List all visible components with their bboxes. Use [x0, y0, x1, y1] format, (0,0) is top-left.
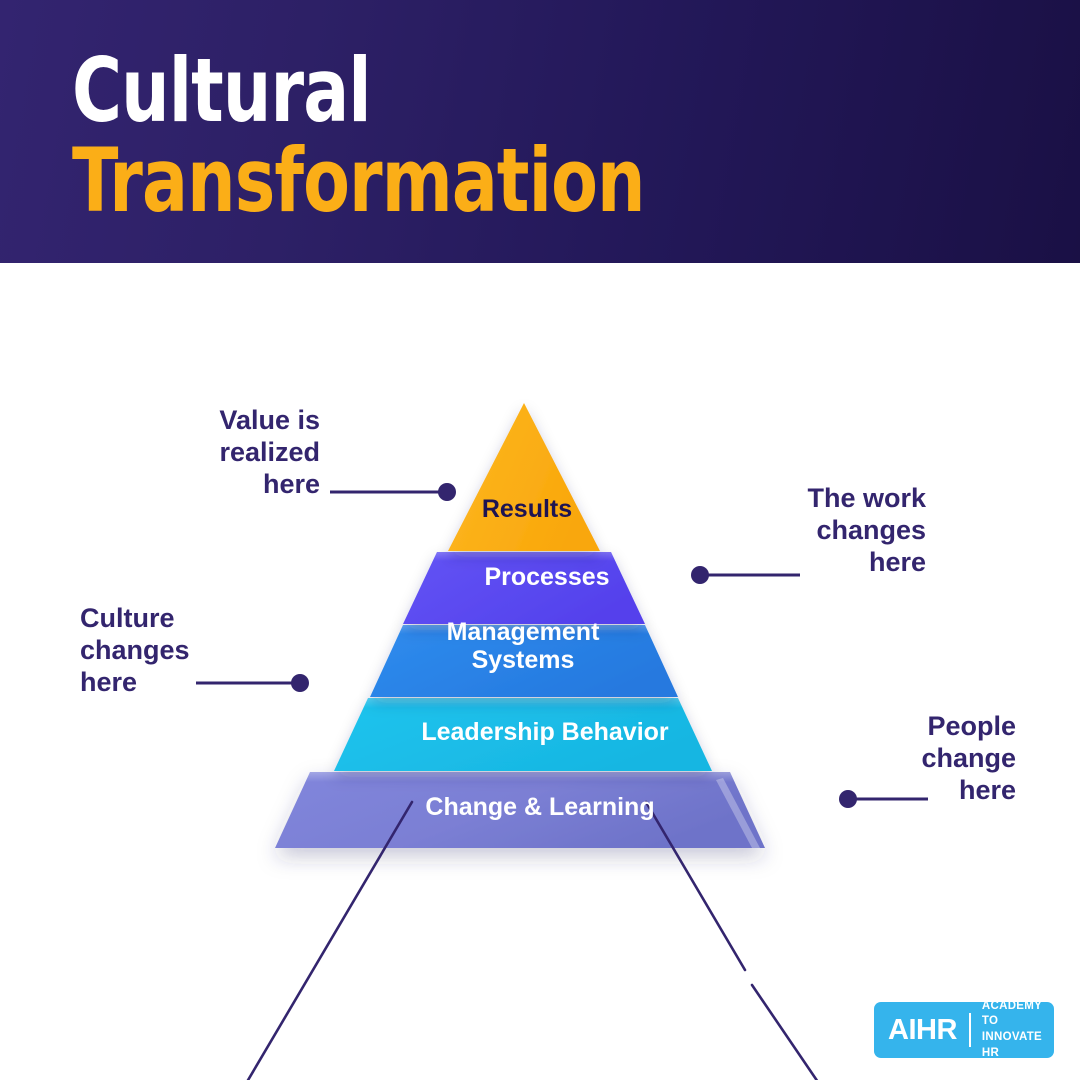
title-line-accent: Transformation: [72, 138, 645, 224]
pyramid-level-management-systems[interactable]: [370, 625, 678, 697]
annotation-value-realized-here: Value is realized here: [80, 405, 320, 501]
connector-value-realized: [330, 483, 456, 501]
logo-brand-text: AIHR: [888, 1016, 957, 1045]
annotation-work-changes-here: The work changes here: [726, 483, 926, 579]
header-band: Cultural Transformation: [0, 0, 1080, 263]
annotation-people-change-here: People change here: [836, 711, 1016, 807]
logo-tagline-text: ACADEMY TO INNOVATE HR: [982, 999, 1042, 1061]
logo-divider: [969, 1013, 971, 1047]
bracket-line-people: [752, 985, 837, 1080]
page-title: Cultural Transformation: [72, 48, 738, 224]
pyramid-diagram: Results Processes Management Systems Lea…: [0, 263, 1080, 1080]
pyramid-level-leadership-behavior[interactable]: [334, 698, 712, 771]
pyramid-levels: [275, 403, 790, 858]
pyramid-level-change-and-learning[interactable]: [275, 772, 790, 858]
pyramid-level-processes[interactable]: [403, 552, 645, 624]
title-line-primary: Cultural: [72, 48, 645, 134]
annotation-culture-changes-here: Culture changes here: [80, 603, 310, 699]
pyramid-level-results[interactable]: [448, 403, 600, 551]
aihr-logo[interactable]: AIHR ACADEMY TO INNOVATE HR: [874, 1002, 1054, 1058]
